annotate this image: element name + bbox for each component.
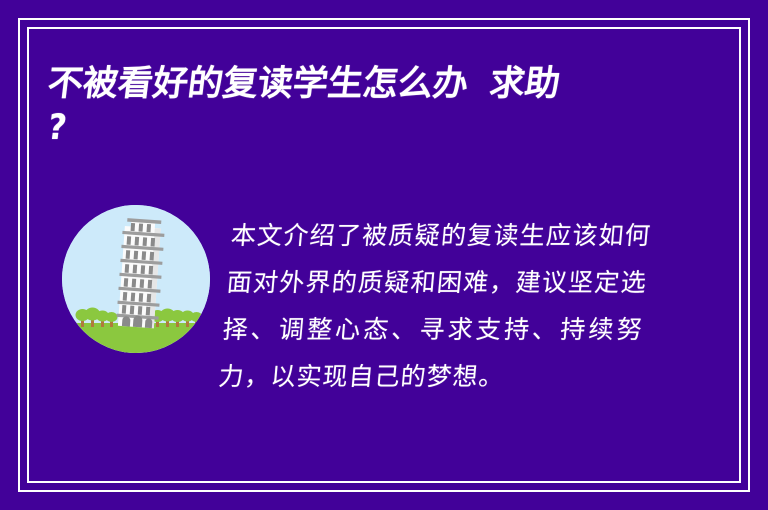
body-text: 本文介绍了被质疑的复读生应该如何面对外界的质疑和困难，建议坚定选择、调整心态、寻… xyxy=(217,212,653,400)
leaning-tower-of-pisa-illustration xyxy=(62,205,210,353)
poster-canvas: 不被看好的复读学生怎么办 求助 ? xyxy=(0,0,768,510)
title-line-2: ? xyxy=(45,106,710,150)
title-line-1: 不被看好的复读学生怎么办 求助 xyxy=(45,62,710,106)
page-title: 不被看好的复读学生怎么办 求助 ? xyxy=(48,62,708,150)
